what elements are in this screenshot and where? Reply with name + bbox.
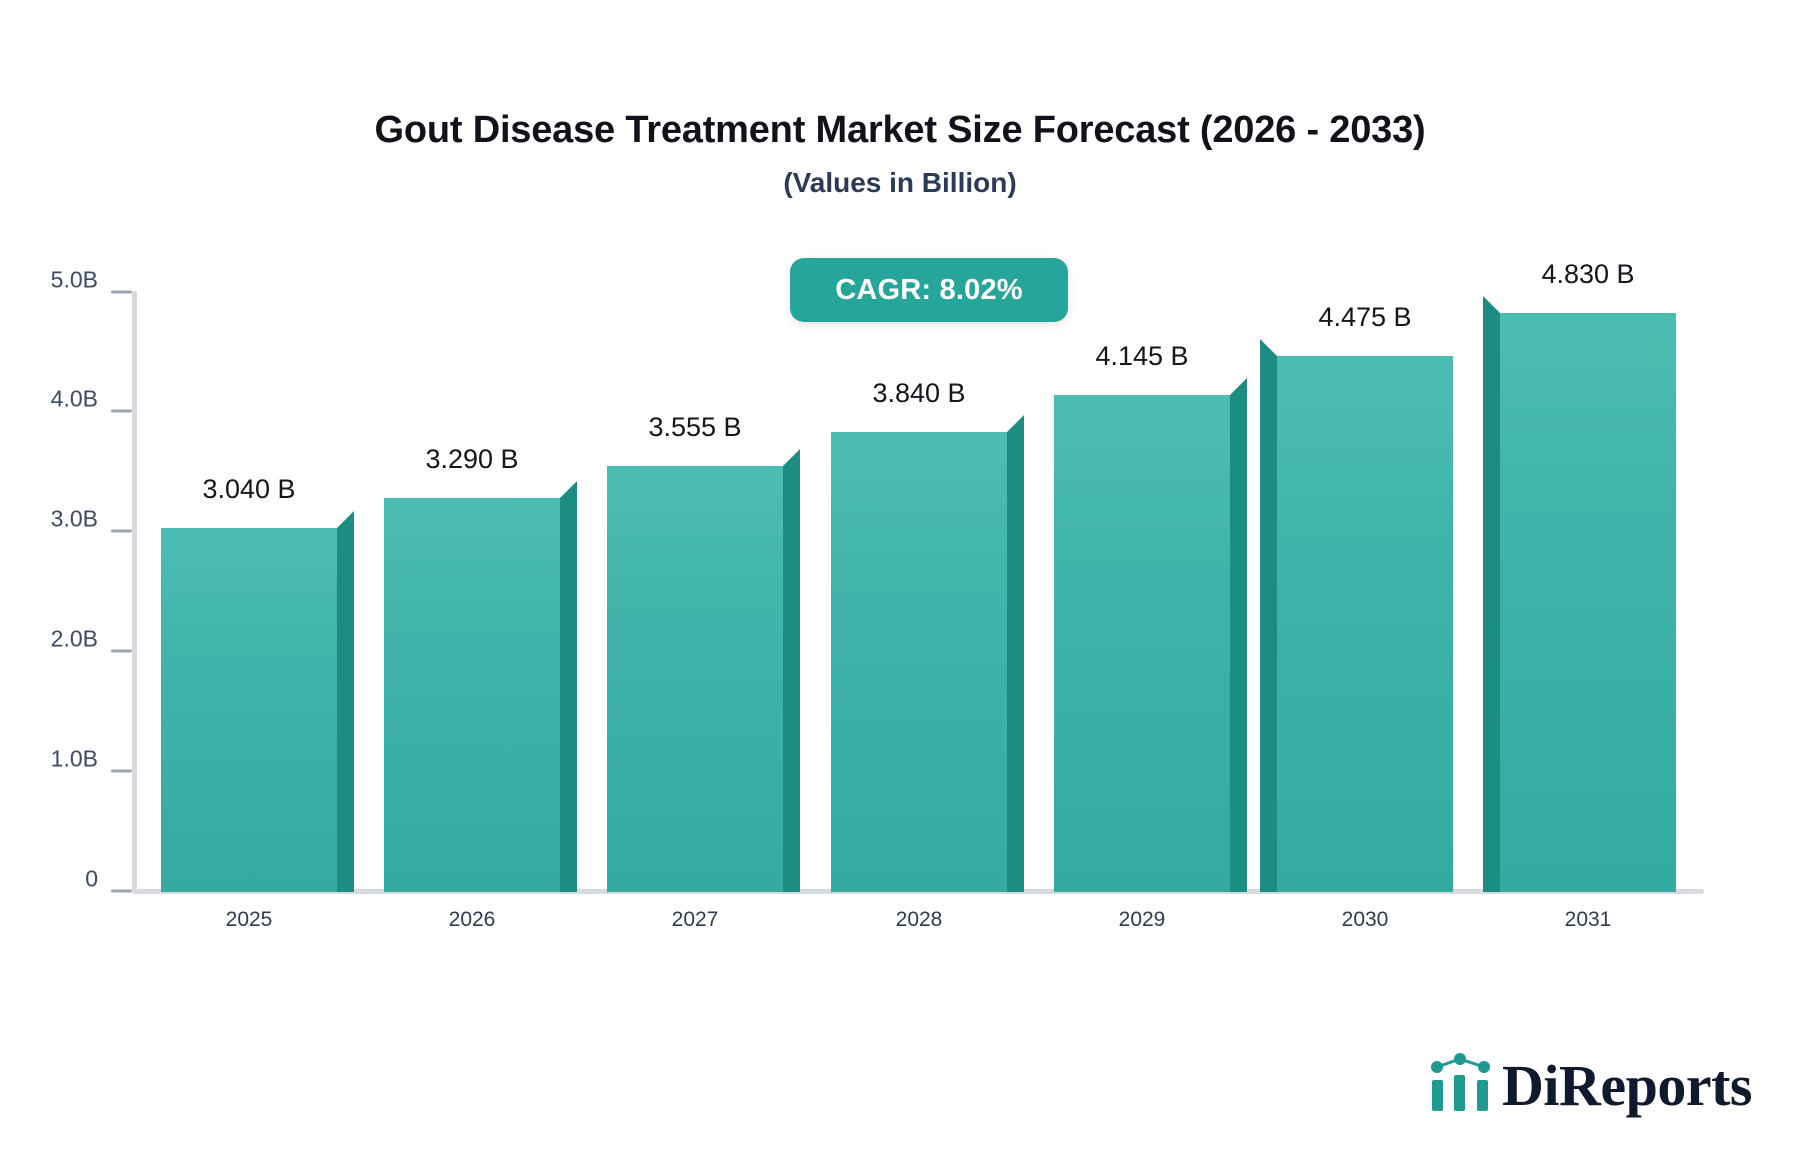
x-axis-label: 2027 [567,908,823,932]
bar-side-face [783,449,800,892]
y-axis-tick-label: 3.0B [51,506,98,533]
bar [1500,313,1676,892]
bar-value-label: 3.555 B [567,412,823,443]
bar-chart-icon [1429,1053,1493,1118]
bar-side-face [1007,415,1024,892]
x-axis-label: 2026 [344,908,600,932]
bar [384,498,560,892]
bar-value-label: 3.040 B [121,474,377,505]
y-axis-tick-mark [111,410,132,413]
y-axis-tick-mark [111,769,132,772]
y-axis-tick-label: 0 [85,865,98,892]
y-axis-line [132,291,137,893]
y-axis-tick-mark [111,889,132,892]
y-axis-tick-label: 2.0B [51,625,98,652]
y-axis-tick-mark [111,649,132,652]
bar-value-label: 4.475 B [1237,302,1493,333]
cagr-badge: CAGR: 8.02% [790,258,1068,322]
direports-logo: DiReports [1429,1053,1752,1118]
bar-side-face [1230,378,1247,892]
bar [607,466,783,892]
plot-area: 5.0B4.0B3.0B2.0B1.0B0 3.040 B3.290 B3.55… [0,0,1800,1156]
bar-value-label: 3.290 B [344,444,600,475]
bar-value-label: 4.830 B [1460,259,1716,290]
bar [831,432,1007,892]
x-axis-label: 2031 [1460,908,1716,932]
bar [161,528,337,892]
bar-value-label: 3.840 B [791,378,1047,409]
chart-page: Gout Disease Treatment Market Size Forec… [0,0,1800,1156]
bar-side-face [1483,296,1500,892]
x-axis-label: 2028 [791,908,1047,932]
y-axis-tick-mark [111,530,132,533]
y-axis-tick-mark [111,290,132,293]
y-axis-tick-label: 1.0B [51,745,98,772]
y-axis-tick-label: 4.0B [51,386,98,413]
x-axis-label: 2030 [1237,908,1493,932]
bar-side-face [560,481,577,892]
x-axis-label: 2029 [1014,908,1270,932]
bar-side-face [1260,339,1277,892]
bar-side-face [337,511,354,892]
x-axis-label: 2025 [121,908,377,932]
bar-value-label: 4.145 B [1014,341,1270,372]
bar [1277,356,1453,892]
bar [1054,395,1230,892]
logo-text: DiReports [1502,1057,1752,1115]
y-axis-tick-label: 5.0B [51,266,98,293]
